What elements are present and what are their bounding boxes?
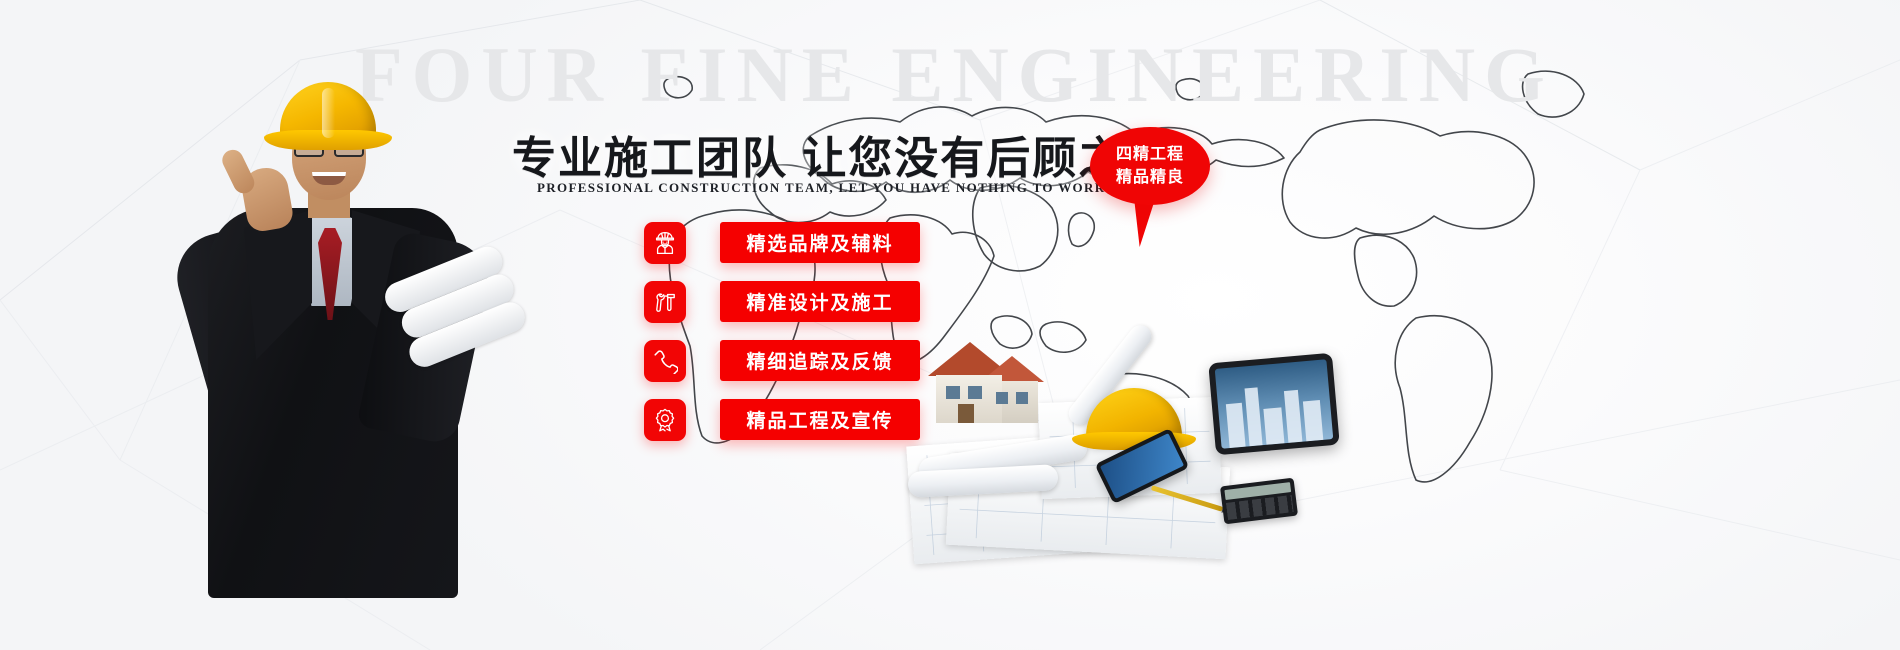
house-window [1016, 392, 1028, 404]
house-door [958, 404, 974, 423]
watermark-title: FOUR FINE ENGINEERING [355, 36, 1554, 114]
feature-pill-2[interactable]: 精准设计及施工 [720, 281, 920, 322]
worker-helmet-icon [644, 222, 686, 264]
tablet-device [1208, 353, 1340, 455]
speech-bubble[interactable]: 四精工程 精品精良 [1090, 127, 1210, 205]
worker-photo [200, 60, 530, 590]
speech-bubble-line-1: 四精工程 [1116, 143, 1184, 166]
speech-bubble-line-2: 精品精良 [1116, 166, 1184, 189]
telephone-icon [644, 340, 686, 382]
calculator-device [1220, 478, 1298, 525]
feature-label-3: 精细追踪及反馈 [746, 347, 893, 374]
wrench-hammer-icon [644, 281, 686, 323]
tablet-screen [1215, 359, 1334, 448]
yellow-hard-hat [280, 82, 376, 144]
page-subtitle: PROFESSIONAL CONSTRUCTION TEAM, LET YOU … [537, 180, 1172, 196]
banner-stage: FOUR FINE ENGINEERING 专业施工团队 让您没有后顾之忧 PR… [0, 0, 1900, 650]
gear-certificate-icon [644, 399, 686, 441]
house-window [968, 386, 982, 399]
house-window [946, 386, 960, 399]
feature-pill-1[interactable]: 精选品牌及辅料 [720, 222, 920, 263]
feature-label-2: 精准设计及施工 [746, 288, 893, 315]
page-title: 专业施工团队 让您没有后顾之忧 [512, 135, 1170, 183]
feature-label-4: 精品工程及宣传 [746, 406, 893, 433]
feature-label-1: 精选品牌及辅料 [746, 229, 893, 256]
house-window [996, 392, 1008, 404]
house-model [922, 342, 1042, 428]
feature-pill-4[interactable]: 精品工程及宣传 [720, 399, 920, 440]
construction-desk-scene [900, 340, 1370, 560]
feature-pill-3[interactable]: 精细追踪及反馈 [720, 340, 920, 381]
